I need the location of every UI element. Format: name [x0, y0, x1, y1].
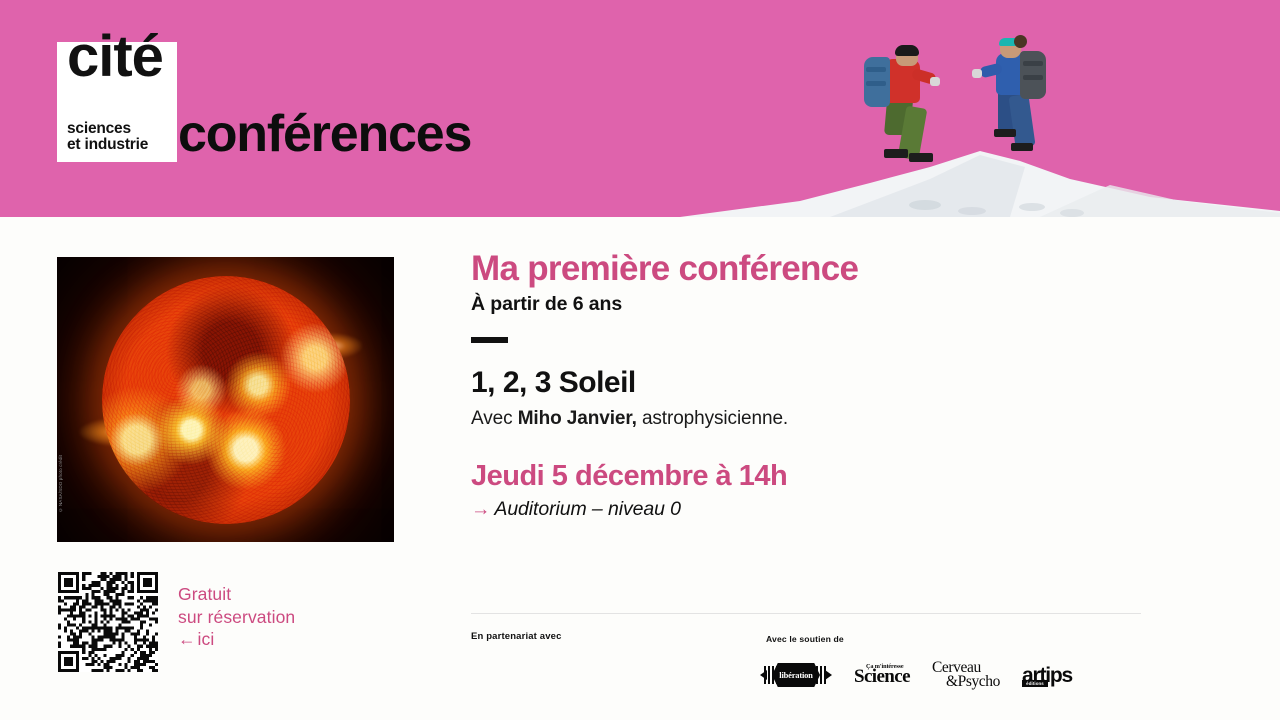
- photo-credit: © NASA/SDO photo crédit: [58, 455, 64, 513]
- sun-disc-icon: [102, 276, 350, 524]
- logo-subtitle-line1: sciences: [67, 121, 148, 138]
- speaker-prefix: Avec: [471, 408, 518, 429]
- artips-tag: éditions: [1022, 680, 1048, 687]
- logo-subtitle-line2: et industrie: [67, 137, 148, 154]
- conference-poster: cité sciences et industrie conférences ©…: [0, 0, 1280, 720]
- speaker-role: astrophysicienne.: [637, 408, 788, 429]
- ca-minteresse-science-logo: Ça m'intéresse Science: [854, 664, 910, 686]
- booking-line-1: Gratuit: [178, 583, 295, 606]
- logo-wordmark-cite: cité: [67, 28, 163, 86]
- qr-code-image[interactable]: [58, 572, 158, 672]
- partner-logos: libération Ça m'intéresse Science Cervea…: [760, 658, 1072, 692]
- booking-line-3: ←ici: [178, 628, 295, 651]
- footer-divider: [471, 613, 1141, 614]
- liberation-wordmark: libération: [779, 671, 812, 680]
- booking-line-2: sur réservation: [178, 606, 295, 629]
- age-recommendation: À partir de 6 ans: [471, 293, 1171, 316]
- sun-photo: © NASA/SDO photo crédit: [57, 257, 394, 542]
- liberation-logo: libération: [760, 663, 832, 687]
- poster-content: Ma première conférence À partir de 6 ans…: [471, 249, 1171, 521]
- arrow-right-icon: →: [471, 498, 490, 520]
- hiker-right-icon: [978, 37, 1064, 187]
- cerveau-psycho-logo: Cerveau &Psycho: [932, 661, 1000, 690]
- speaker-name: Miho Janvier,: [518, 408, 637, 429]
- conference-title: 1, 2, 3 Soleil: [471, 366, 1171, 400]
- partner-label: En partenariat avec: [471, 631, 562, 642]
- liberation-arrow-right-icon: [825, 670, 832, 680]
- support-label: Avec le soutien de: [766, 634, 844, 644]
- science-logo-word: Science: [854, 667, 910, 686]
- event-location: →Auditorium – niveau 0: [471, 498, 1171, 521]
- page-title: Ma première conférence: [471, 249, 1171, 288]
- poster-header: cité sciences et industrie conférences: [0, 0, 1280, 217]
- arrow-left-icon: ←: [178, 629, 198, 649]
- cerveau-psycho-line2: &Psycho: [946, 675, 1000, 689]
- booking-link-label[interactable]: ici: [198, 629, 215, 649]
- cite-logo: cité sciences et industrie: [57, 42, 177, 162]
- event-date: Jeudi 5 décembre à 14h: [471, 460, 1171, 493]
- sun-texture: [102, 276, 350, 524]
- liberation-arrow-left-icon: [760, 670, 767, 680]
- divider-dash: [471, 337, 508, 343]
- qr-code[interactable]: [58, 572, 158, 672]
- hiker-left-icon: [860, 45, 946, 195]
- speaker-line: Avec Miho Janvier, astrophysicienne.: [471, 408, 1171, 430]
- artips-logo: artips éditions: [1022, 665, 1072, 686]
- booking-info: Gratuit sur réservation ←ici: [178, 583, 295, 651]
- logo-subtitle: sciences et industrie: [67, 121, 148, 154]
- header-section-title: conférences: [178, 108, 471, 160]
- hikers-illustration: [660, 0, 1280, 217]
- event-location-label: Auditorium – niveau 0: [494, 498, 681, 520]
